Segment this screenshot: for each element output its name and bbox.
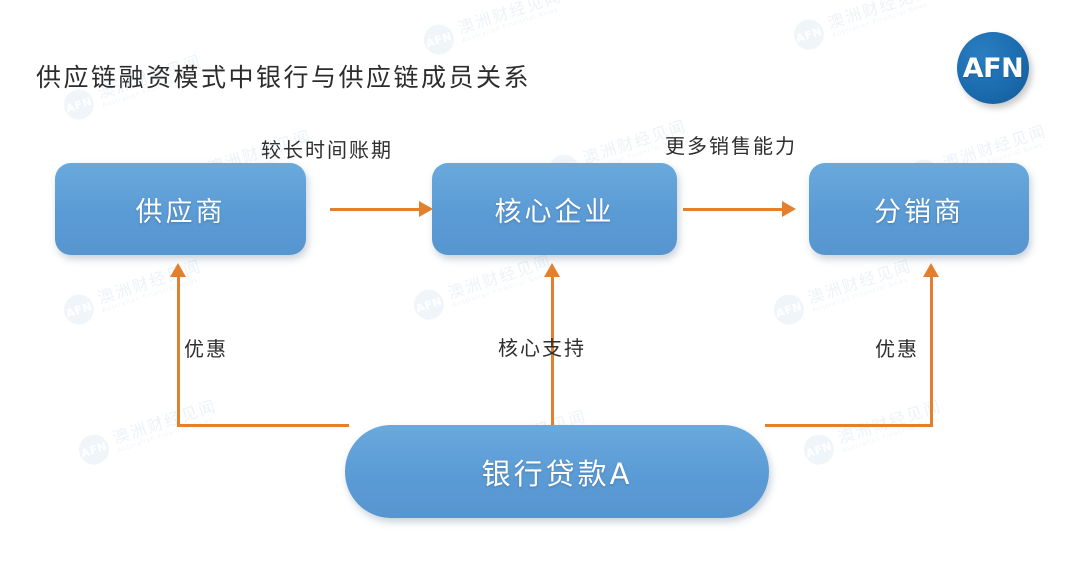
watermark-badge-icon: AFN [800, 431, 838, 469]
node-distributor-label: 分销商 [874, 190, 964, 229]
watermark-cn-text: 澳洲财经见闻 [456, 0, 564, 38]
arrow-head-bank-to-supplier [170, 263, 186, 277]
edge-line-supplier-to-core [330, 208, 420, 211]
edge-label-bank-to-supplier: 优惠 [184, 333, 228, 362]
arrow-head-core-to-distributor [782, 201, 796, 217]
watermark-en-text: Australian Financial News [116, 414, 221, 454]
page-title: 供应链融资模式中银行与供应链成员关系 [36, 58, 531, 94]
watermark-tile: AFN 澳洲财经见闻 Australian Financial News [420, 0, 567, 59]
edge-line-core-to-distributor [683, 208, 783, 211]
watermark-cn-text: 澳洲财经见闻 [836, 398, 944, 447]
watermark-badge-icon: AFN [60, 291, 98, 329]
watermark-tile: AFN 澳洲财经见闻 Australian Financial News [75, 395, 222, 468]
watermark-en-text: Australian Financial News [461, 4, 566, 44]
edge-line-bank-to-distributor-horizontal [765, 424, 933, 427]
node-supplier-label: 供应商 [136, 190, 226, 229]
watermark-tile: AFN 澳洲财经见闻 Australian Financial News [800, 395, 947, 468]
afn-logo-text: AFN [963, 53, 1023, 84]
watermark-en-text: Australian Financial News [451, 269, 556, 309]
watermark-badge-icon: AFN [770, 291, 808, 329]
watermark-en-text: Australian Financial News [101, 274, 206, 314]
watermark-tile: AFN 澳洲财经见闻 Australian Financial News [770, 255, 917, 328]
arrow-head-bank-to-core [544, 263, 560, 277]
node-core-enterprise[interactable]: 核心企业 [432, 163, 677, 255]
afn-logo-icon: AFN [957, 32, 1029, 104]
node-supplier[interactable]: 供应商 [55, 163, 306, 255]
node-core-enterprise-label: 核心企业 [495, 190, 615, 229]
edge-label-core-to-distributor: 更多销售能力 [665, 130, 797, 159]
watermark-en-text: Australian Financial News [831, 0, 936, 39]
edge-line-bank-to-supplier-vertical [177, 277, 180, 425]
edge-label-bank-to-distributor: 优惠 [875, 333, 919, 362]
arrow-head-bank-to-distributor [923, 263, 939, 277]
watermark-badge-icon: AFN [410, 286, 448, 324]
edge-line-bank-to-distributor-vertical [930, 277, 933, 425]
edge-label-supplier-to-core: 较长时间账期 [261, 134, 393, 163]
watermark-badge-icon: AFN [790, 16, 828, 54]
watermark-cn-text: 澳洲财经见闻 [111, 398, 219, 447]
watermark-cn-text: 澳洲财经见闻 [826, 0, 934, 33]
diagram-canvas: AFN 澳洲财经见闻 Australian Financial News AFN… [0, 0, 1080, 583]
arrow-head-supplier-to-core [419, 201, 433, 217]
edge-line-bank-to-supplier-horizontal [177, 424, 349, 427]
watermark-badge-icon: AFN [420, 21, 458, 59]
watermark-cn-text: 澳洲财经见闻 [96, 258, 204, 307]
watermark-tile: AFN 澳洲财经见闻 Australian Financial News [790, 0, 937, 54]
node-bank-loan-label: 银行贷款A [482, 451, 633, 493]
watermark-tile: AFN 澳洲财经见闻 Australian Financial News [410, 250, 557, 323]
edge-label-bank-to-core: 核心支持 [498, 332, 586, 361]
node-bank-loan[interactable]: 银行贷款A [345, 425, 769, 518]
watermark-cn-text: 澳洲财经见闻 [806, 258, 914, 307]
watermark-badge-icon: AFN [75, 431, 113, 469]
node-distributor[interactable]: 分销商 [809, 163, 1029, 255]
watermark-cn-text: 澳洲财经见闻 [446, 253, 554, 302]
watermark-en-text: Australian Financial News [811, 274, 916, 314]
